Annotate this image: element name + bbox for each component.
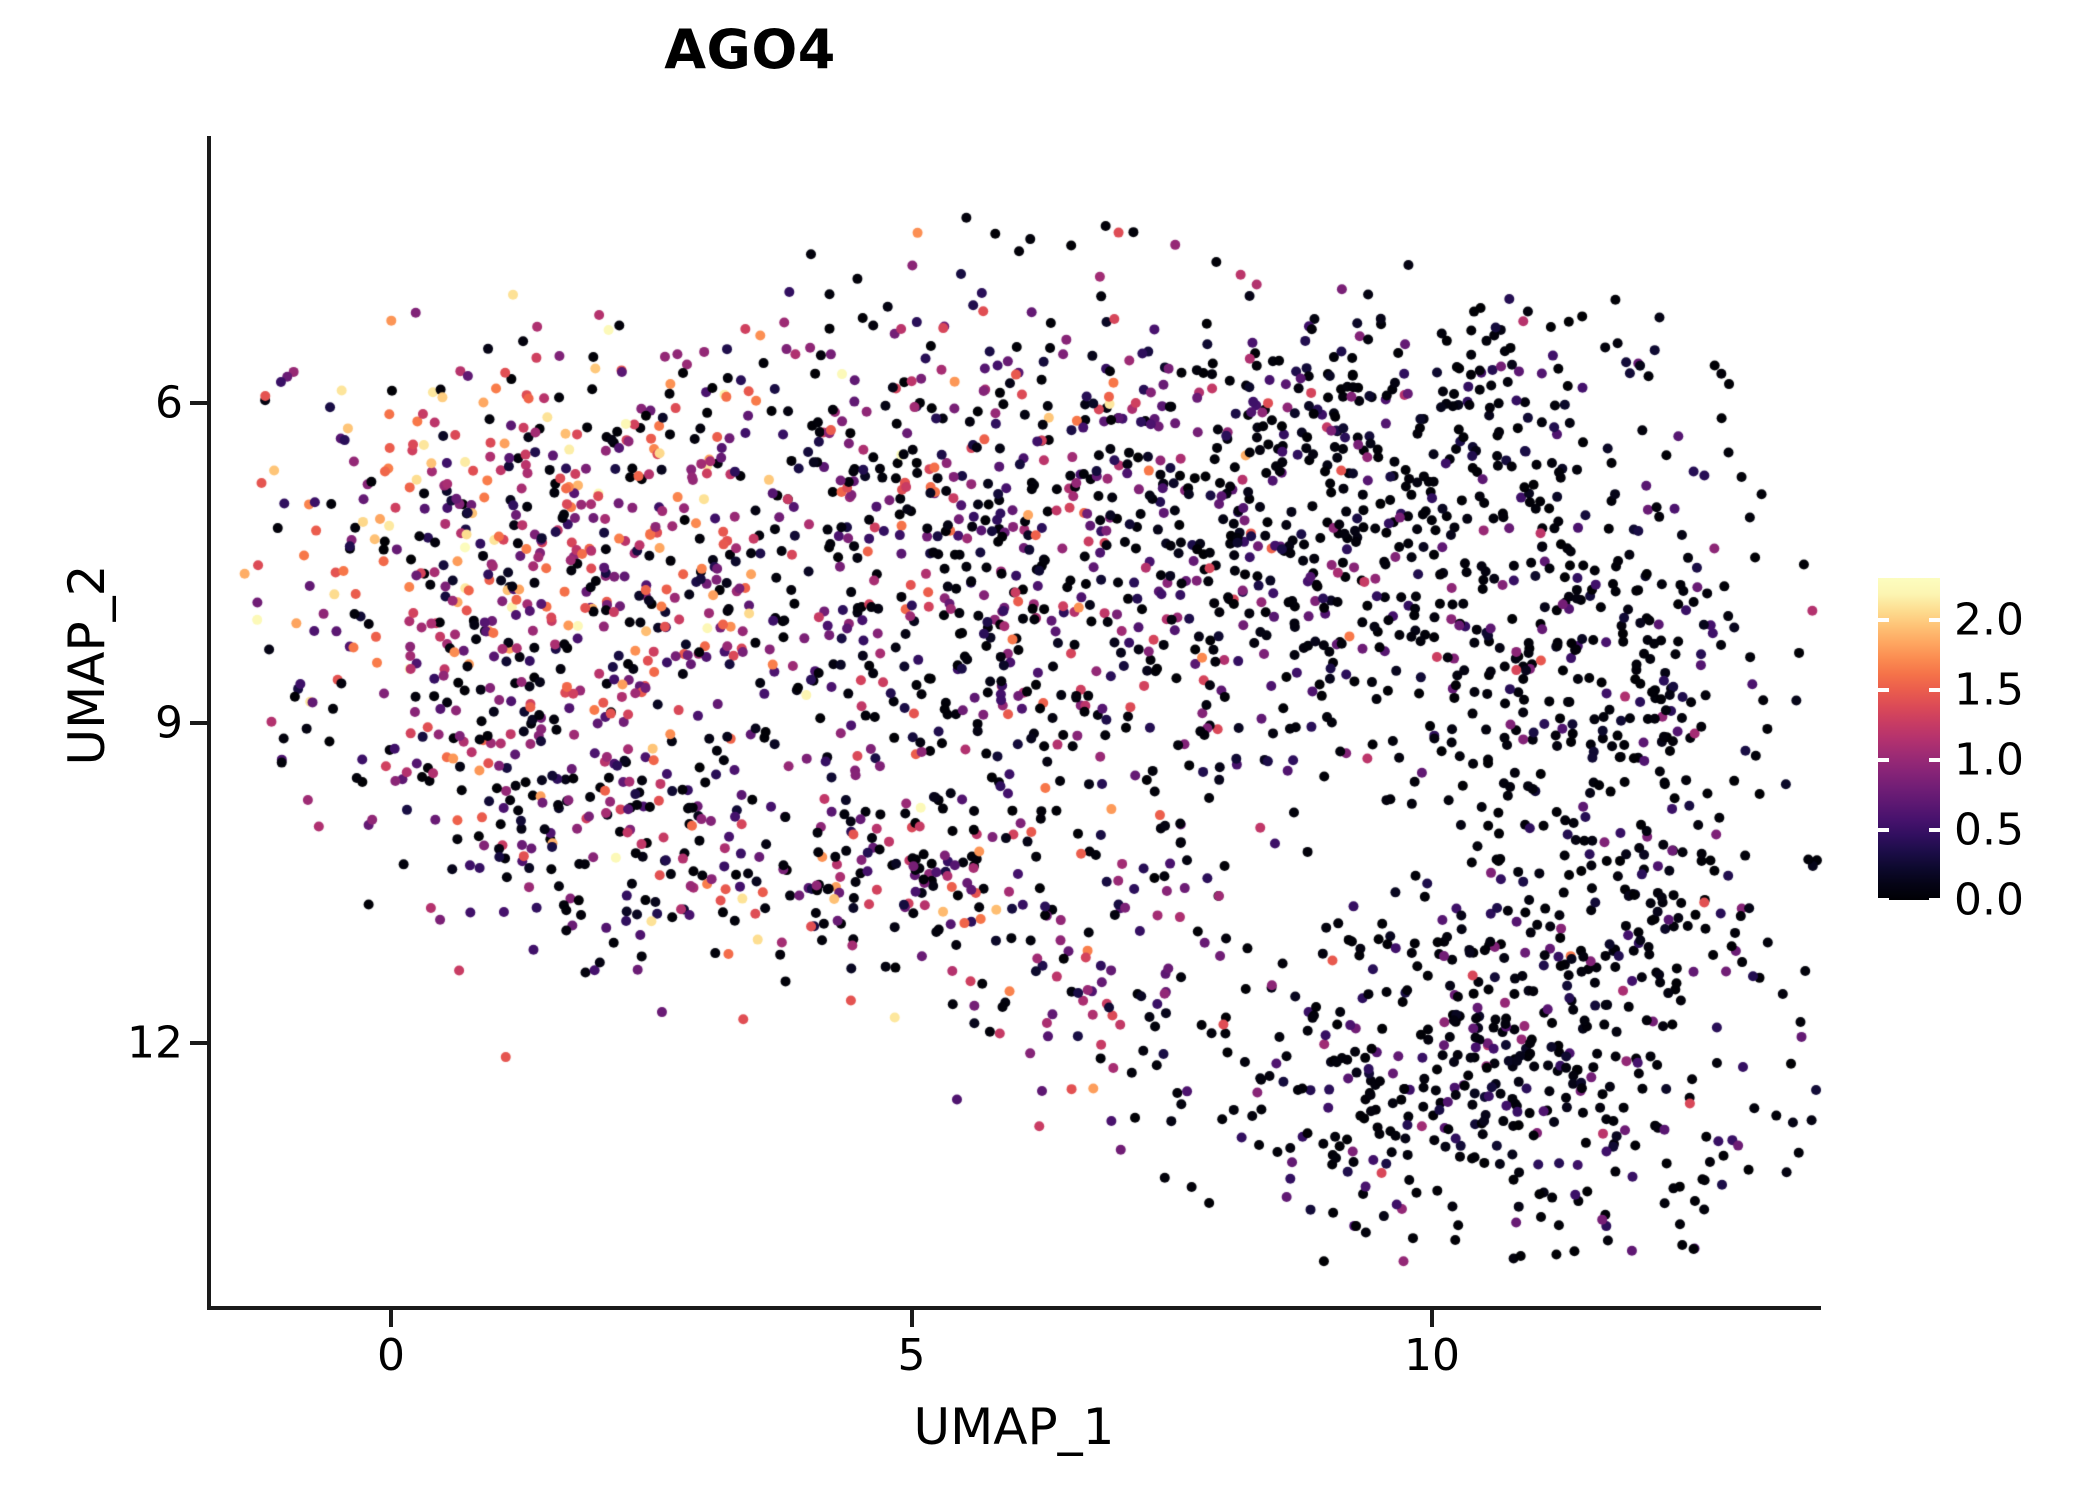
x-tick-mark [1430,1310,1434,1327]
colorbar-label: 2.0 [1954,595,2024,646]
x-axis-title: UMAP_1 [207,1398,1821,1456]
colorbar-tick [1878,758,1889,762]
y-axis-line [207,136,211,1310]
colorbar-label: 0.5 [1954,805,2024,856]
y-axis-title: UMAP_2 [58,265,116,1065]
x-tick-label: 0 [377,1330,405,1381]
y-tick-label: 6 [155,378,183,429]
y-tick-label: 9 [155,698,183,749]
y-tick-mark [190,1041,207,1045]
colorbar-tick [1878,898,1889,902]
colorbar-tick [1929,618,1940,622]
colorbar-label: 1.5 [1954,665,2024,716]
colorbar-label: 1.0 [1954,735,2024,786]
y-tick-mark [190,721,207,725]
y-tick-mark [190,401,207,405]
colorbar-tick [1929,828,1940,832]
y-tick-label: 12 [127,1018,183,1069]
x-tick-mark [389,1310,393,1327]
colorbar-tick [1929,688,1940,692]
colorbar-tick [1929,898,1940,902]
x-tick-label: 10 [1404,1330,1460,1381]
colorbar-tick [1878,618,1889,622]
x-tick-label: 5 [898,1330,926,1381]
scatter-plot-canvas [0,0,2100,1500]
x-tick-mark [910,1310,914,1327]
colorbar-tick [1878,688,1889,692]
colorbar-gradient [1878,578,1940,900]
x-axis-line [207,1306,1821,1310]
umap-feature-plot: AGO4 12 9 6 0 5 10 UMAP_1 UMAP_2 2.0 1.5 [0,0,2100,1500]
colorbar-label: 0.0 [1954,875,2024,926]
colorbar-tick [1929,758,1940,762]
colorbar: 2.0 1.5 1.0 0.5 0.0 [1878,578,1940,900]
plot-panel: 12 9 6 0 5 10 UMAP_1 UMAP_2 [0,0,2100,1500]
colorbar-tick [1878,828,1889,832]
